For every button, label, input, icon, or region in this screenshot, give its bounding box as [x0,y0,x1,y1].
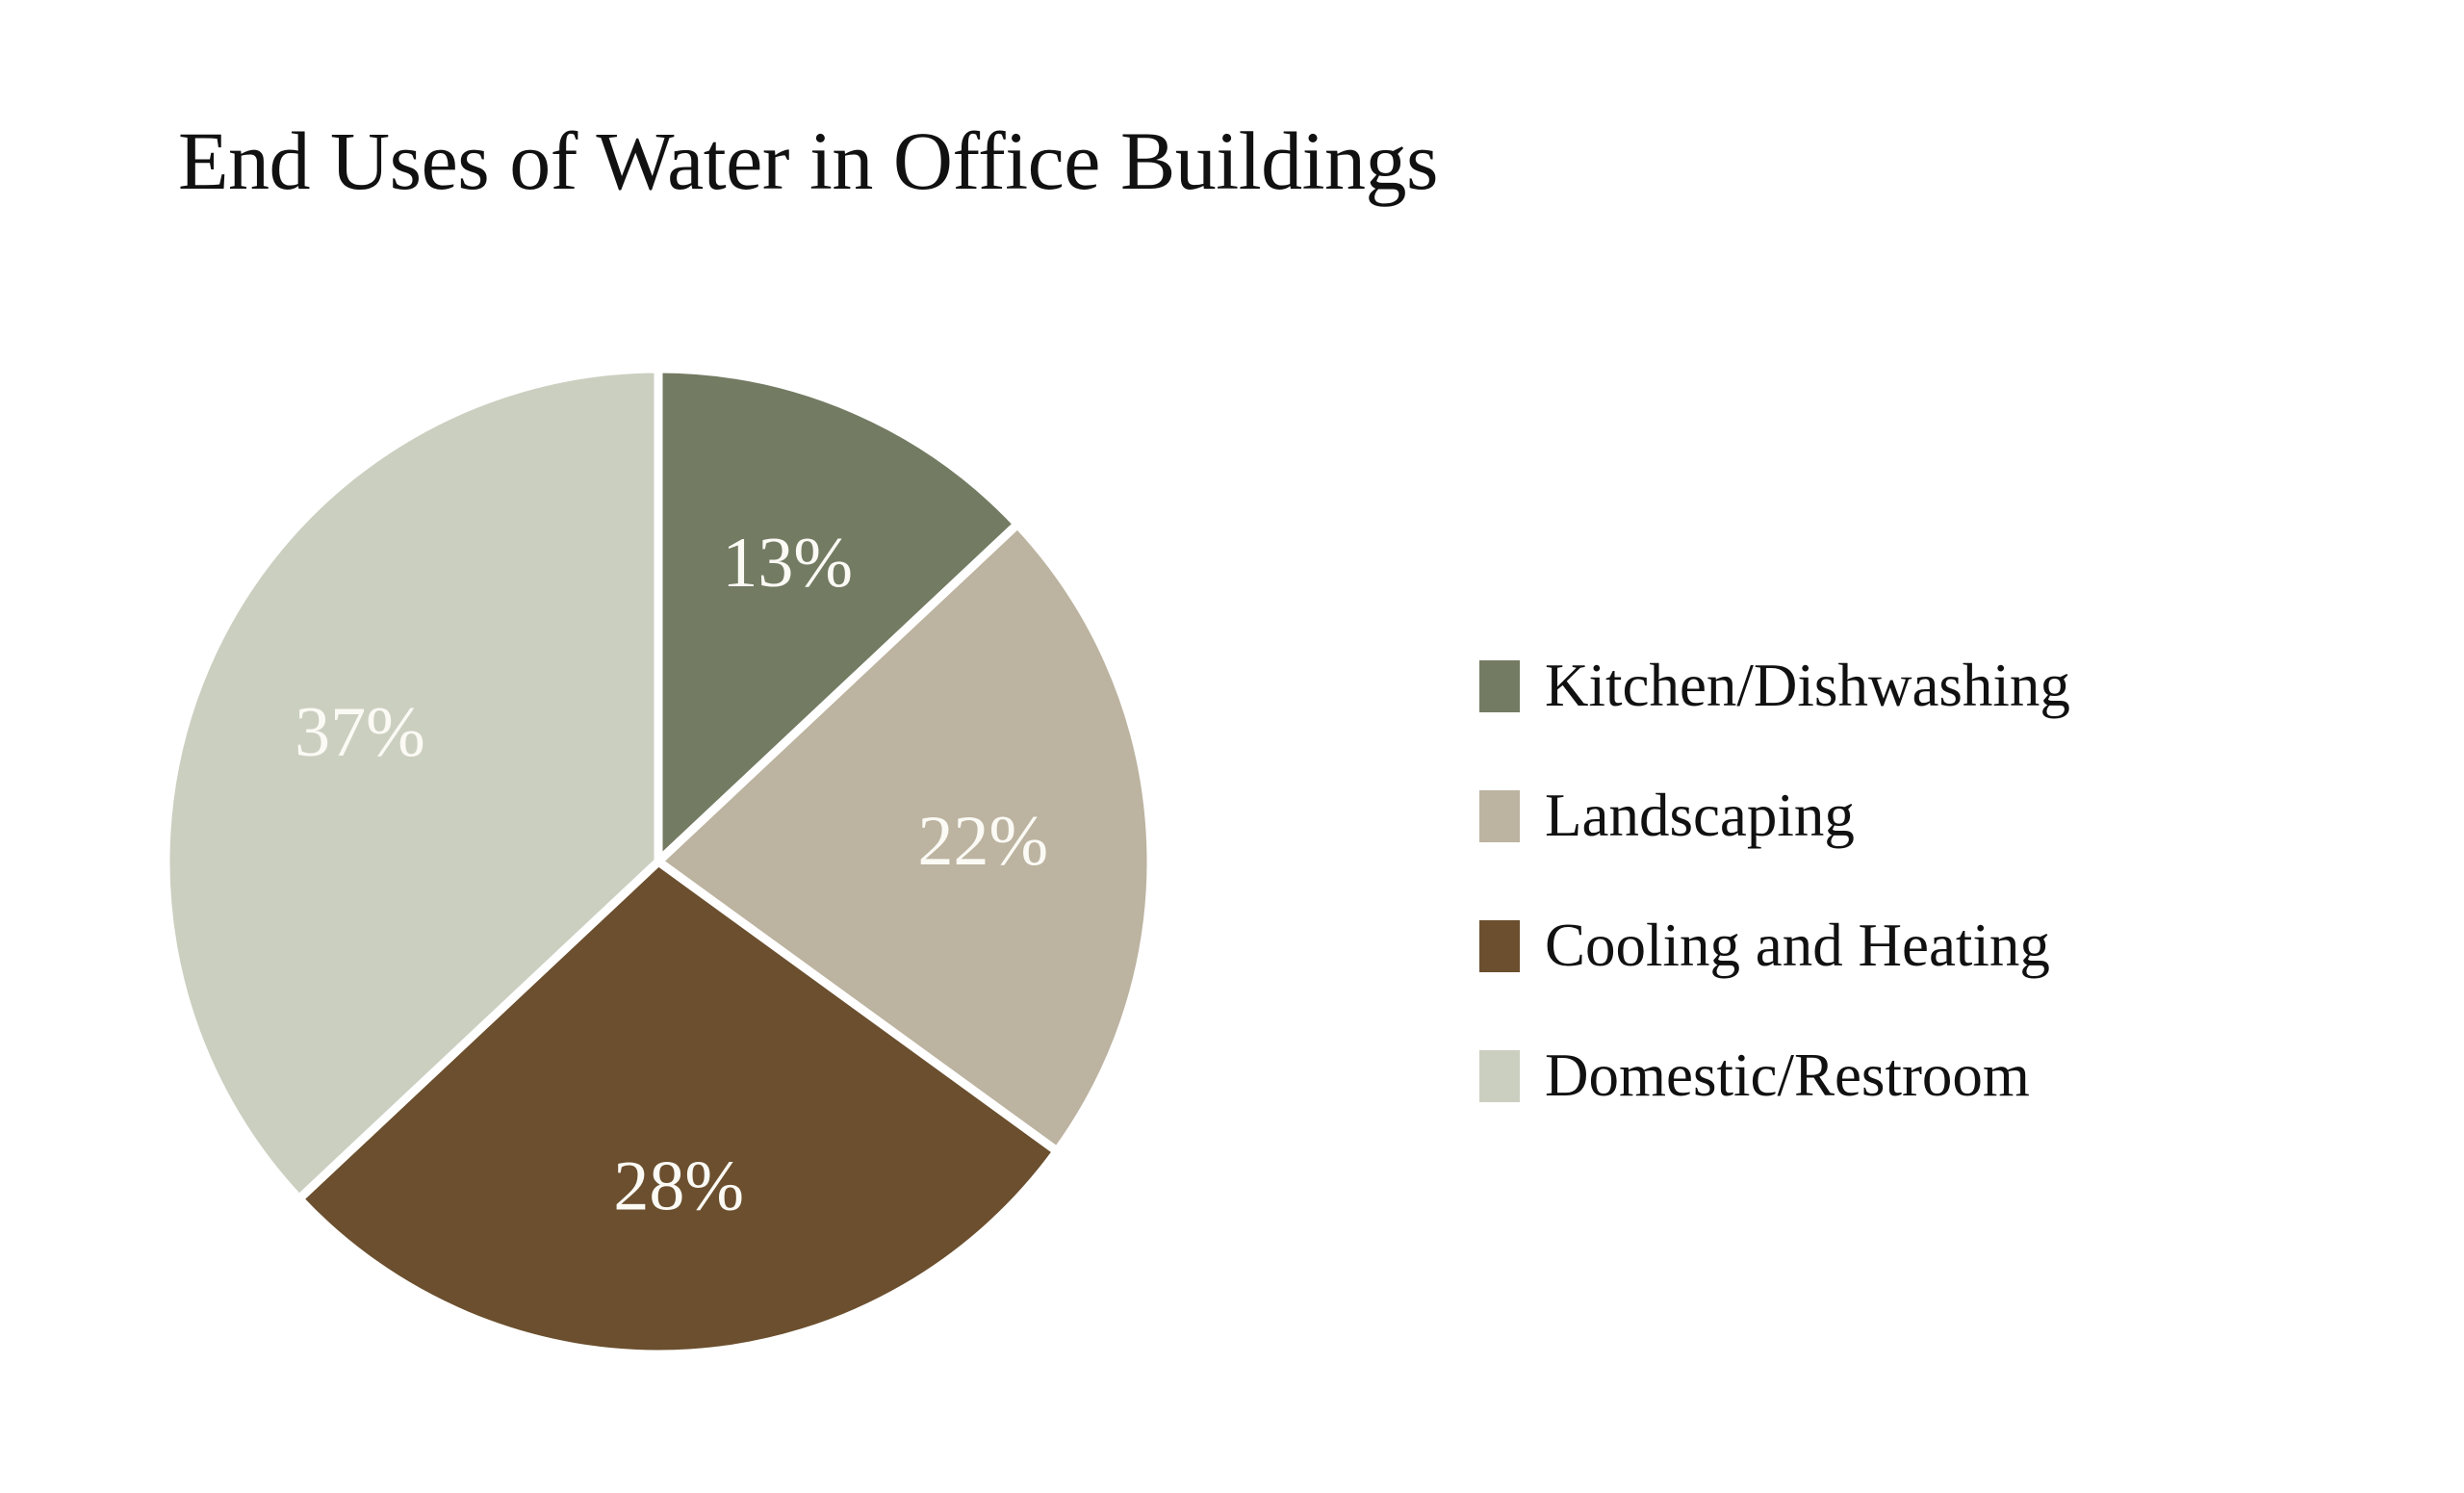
chart-legend: Kitchen/DishwashingLandscapingCooling an… [1479,621,2394,1141]
pie-slice-value-label: 28% [613,1146,744,1225]
pie-plot-area: 13%22%28%37% [0,0,1367,1493]
legend-swatch-icon [1479,920,1520,972]
legend-item[interactable]: Domestic/Restroom [1479,1011,2394,1141]
legend-item[interactable]: Landscaping [1479,751,2394,881]
pie-svg: 13%22%28%37% [0,0,1367,1493]
legend-item-label: Cooling and Heating [1545,915,2050,976]
legend-swatch-icon [1479,660,1520,712]
pie-chart-figure: End Uses of Water in Office Buildings 13… [0,0,2464,1493]
legend-swatch-icon [1479,1050,1520,1102]
pie-slice-value-label: 37% [295,693,425,772]
legend-item[interactable]: Kitchen/Dishwashing [1479,621,2394,751]
pie-slice-value-label: 22% [917,802,1048,881]
pie-slice-value-label: 13% [722,524,853,603]
legend-item[interactable]: Cooling and Heating [1479,881,2394,1011]
legend-item-label: Domestic/Restroom [1545,1045,2030,1106]
legend-swatch-icon [1479,790,1520,842]
legend-item-label: Landscaping [1545,785,1855,846]
legend-item-label: Kitchen/Dishwashing [1545,656,2070,716]
